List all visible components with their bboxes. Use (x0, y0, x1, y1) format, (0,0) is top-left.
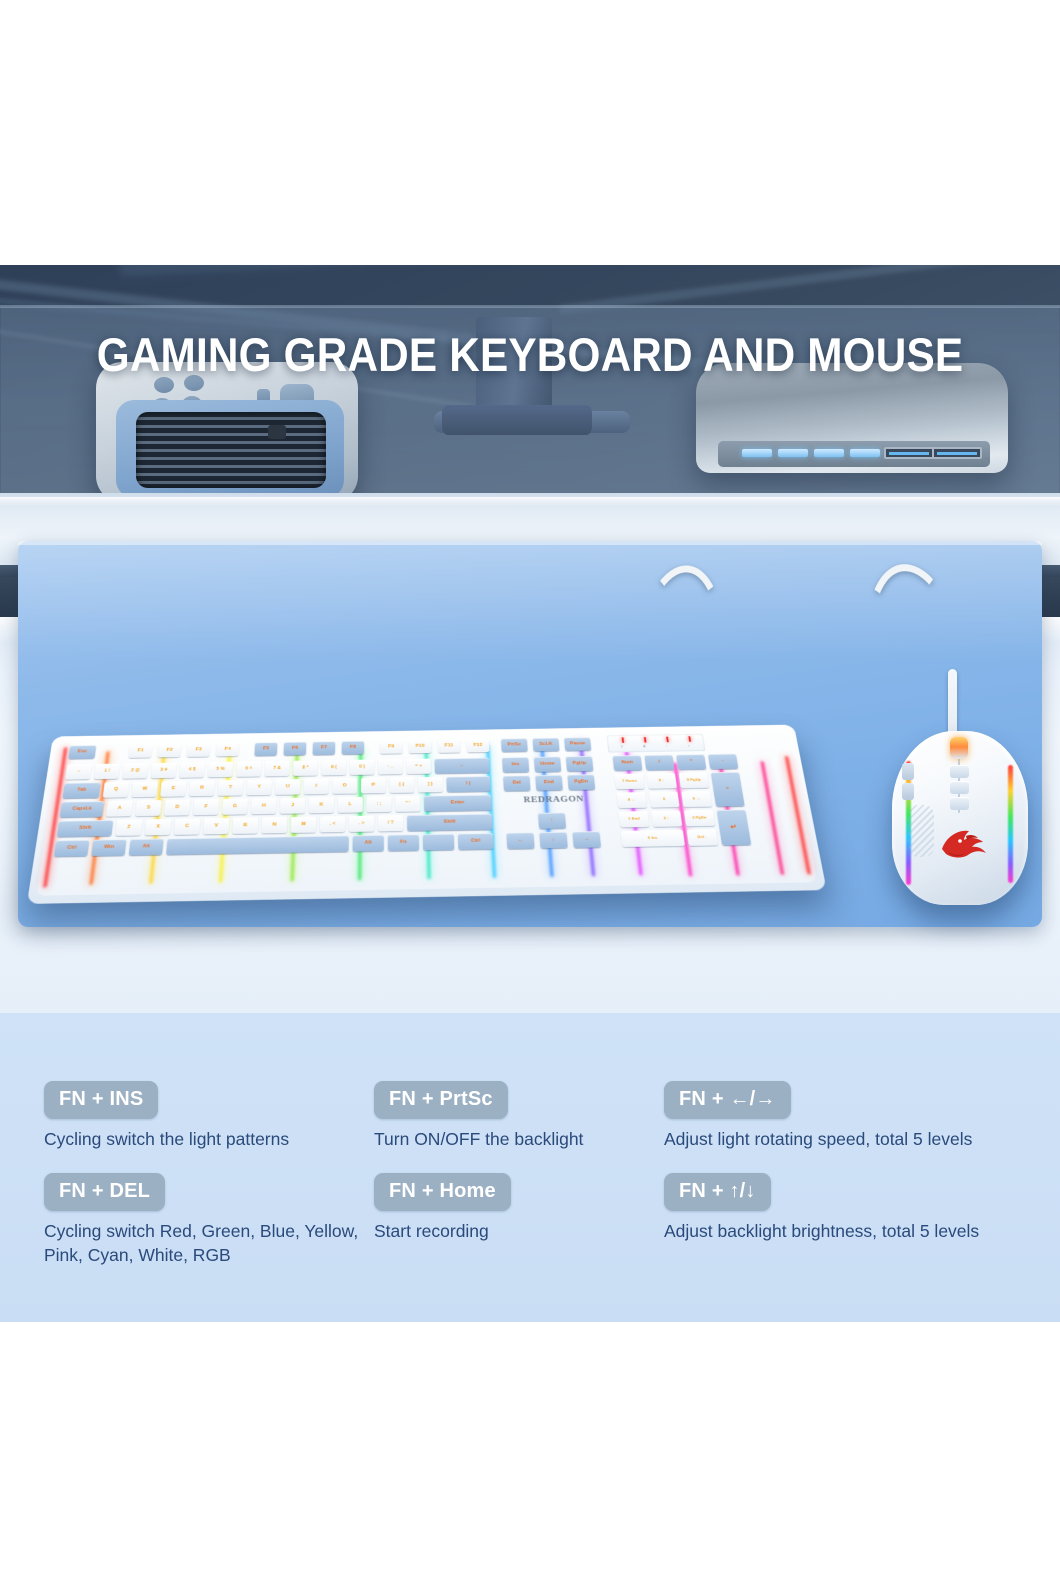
feature-description: Adjust backlight brightness, total 5 lev… (664, 1220, 1024, 1243)
key-r[interactable]: R (189, 780, 215, 796)
mouse-side-button-forward[interactable] (902, 763, 914, 780)
keyboard-brand-logo: REDRAGON (523, 795, 584, 805)
desk-highlight (0, 497, 1060, 507)
feature-column-1: FN + INS Cycling switch the light patter… (44, 1081, 374, 1289)
key-numpad-2[interactable]: 2 ↓ (651, 811, 682, 827)
product-marketing-image: Esc F1 F2 F3 F4 F5 F6 F7 F8 F9 F10 F11 F… (0, 0, 1060, 1590)
dock-led-indicator (778, 449, 808, 457)
key-a[interactable]: A (106, 801, 133, 817)
key-f3[interactable]: F3 (187, 743, 211, 757)
key-5[interactable]: 5 % (208, 762, 234, 778)
key-f9[interactable]: F9 (380, 740, 402, 754)
key-numpad-9[interactable]: 9 PgUp (679, 772, 710, 788)
key-3[interactable]: 3 # (151, 763, 177, 779)
key-f1[interactable]: F1 (128, 744, 152, 758)
key-c[interactable]: C (174, 818, 201, 834)
mouse-profile-button[interactable] (950, 781, 969, 794)
key-prtsc[interactable]: PrtSc (501, 738, 528, 752)
key-enter[interactable]: Enter (424, 795, 492, 812)
key-p[interactable]: P (361, 778, 386, 794)
key-4[interactable]: 4 $ (179, 762, 205, 778)
key-bracket-right[interactable]: ] } (418, 777, 443, 793)
mouse-rgb-strip-right (1008, 765, 1013, 883)
feature-description: Adjust light rotating speed, total 5 lev… (664, 1128, 1024, 1151)
key-bracket-left[interactable]: [ { (389, 777, 414, 793)
key-ins[interactable]: Ins (502, 757, 529, 773)
key-f2[interactable]: F2 (158, 744, 182, 758)
key-slash[interactable]: / ? (378, 815, 403, 831)
key-j[interactable]: J (280, 798, 306, 814)
shortcut-badge-fn-left-right: FN + ←/→ (664, 1081, 791, 1119)
dock-led-indicator (814, 449, 844, 457)
mouse-grip-texture (908, 805, 934, 857)
key-f10[interactable]: F10 (409, 740, 432, 754)
dock-usb-port (932, 447, 982, 459)
key-i[interactable]: I (304, 779, 329, 795)
led-label: 1 (621, 745, 623, 748)
led-label: A (643, 745, 646, 748)
key-f4[interactable]: F4 (216, 743, 239, 757)
key-numpad-plus[interactable]: + (711, 772, 745, 807)
key-9[interactable]: 9 ( (321, 760, 346, 776)
key-period[interactable]: . > (349, 816, 374, 832)
key-menu[interactable] (423, 834, 455, 851)
key-numpad-5[interactable]: 5 (649, 792, 680, 808)
key-f6[interactable]: F6 (283, 742, 306, 756)
key-tilde[interactable]: ~ (65, 764, 92, 780)
mouse-side-button-back[interactable] (902, 783, 914, 800)
key-d[interactable]: D (164, 800, 190, 816)
gaming-mouse[interactable] (884, 721, 1036, 907)
key-numpad-decimal[interactable]: Del . (687, 829, 719, 846)
key-numpad-4[interactable]: 4 ← (617, 792, 647, 808)
key-8[interactable]: 8 * (293, 760, 318, 776)
key-z[interactable]: Z (115, 819, 142, 835)
feature-item: FN + INS Cycling switch the light patter… (44, 1081, 374, 1151)
key-w[interactable]: W (131, 781, 158, 797)
key-ctrl-left[interactable]: Ctrl (54, 840, 90, 857)
feature-description: Turn ON/OFF the backlight (374, 1128, 664, 1151)
key-numpad-enter[interactable]: ↵ (717, 809, 752, 845)
key-numpad-7[interactable]: 7 Home (614, 773, 644, 789)
feature-item: FN + ←/→ Adjust light rotating speed, to… (664, 1081, 1024, 1151)
key-arrow-right[interactable]: → (572, 831, 601, 848)
key-q[interactable]: Q (103, 782, 130, 798)
key-0[interactable]: 0 ) (350, 759, 375, 775)
key-u[interactable]: U (275, 779, 300, 795)
key-v[interactable]: V (203, 818, 229, 834)
key-f12[interactable]: F12 (466, 739, 489, 753)
key-equals[interactable]: = + (406, 759, 431, 775)
key-home[interactable]: Home (534, 756, 562, 772)
key-m[interactable]: M (291, 817, 317, 833)
key-l[interactable]: L (338, 797, 363, 813)
speaker-lens (268, 425, 286, 439)
mousepad-edge (18, 541, 1042, 545)
key-f7[interactable]: F7 (313, 741, 336, 755)
key-f11[interactable]: F11 (438, 739, 461, 753)
feature-description: Start recording (374, 1220, 664, 1243)
key-b[interactable]: B (232, 818, 258, 834)
shortcut-badge-fn-del: FN + DEL (44, 1173, 165, 1211)
mouse-scroll-wheel[interactable] (950, 737, 968, 759)
key-y[interactable]: Y (246, 780, 272, 796)
key-f5[interactable]: F5 (254, 742, 277, 756)
feature-description: Cycling switch Red, Green, Blue, Yellow,… (44, 1220, 374, 1267)
key-arrow-down[interactable]: ↓ (539, 832, 568, 849)
feature-item: FN + Home Start recording (374, 1173, 664, 1243)
key-pause[interactable]: Pause (564, 737, 591, 751)
key-backslash[interactable]: \ | (446, 776, 490, 792)
key-tab[interactable]: Tab (62, 782, 100, 798)
key-backspace[interactable]: ← (434, 758, 489, 774)
led-label: ↑ (665, 745, 667, 748)
key-arrow-left[interactable]: ← (506, 832, 534, 849)
mouse-extra-button[interactable] (950, 797, 969, 810)
feature-item: FN + ↑/↓ Adjust backlight brightness, to… (664, 1173, 1024, 1243)
key-f[interactable]: F (193, 799, 219, 815)
feature-item: FN + PrtSc Turn ON/OFF the backlight (374, 1081, 664, 1151)
key-comma[interactable]: , < (320, 816, 346, 832)
key-1[interactable]: 1 ! (94, 764, 121, 780)
key-k[interactable]: K (309, 797, 334, 813)
dock-usb-port (884, 447, 934, 459)
key-ctrl-right[interactable]: Ctrl (458, 833, 494, 850)
led-label: ⌂ (688, 744, 690, 747)
key-6[interactable]: 6 ^ (236, 761, 261, 777)
key-2[interactable]: 2 @ (122, 763, 148, 779)
key-numlock[interactable]: Num (612, 755, 642, 771)
shortcut-badge-fn-home: FN + Home (374, 1173, 511, 1211)
mouse-cable-end (948, 669, 957, 739)
key-f8[interactable]: F8 (342, 741, 365, 755)
key-quote[interactable]: " ' (395, 796, 420, 812)
mouse-dpi-button[interactable] (950, 765, 969, 778)
dock-led-indicator (850, 449, 880, 457)
key-pgup[interactable]: PgUp (566, 756, 594, 772)
key-end[interactable]: End (535, 775, 563, 791)
key-g[interactable]: G (222, 799, 248, 815)
shortcut-badge-fn-prtsc: FN + PrtSc (374, 1081, 508, 1119)
key-alt-right[interactable]: Alt (353, 835, 384, 852)
speaker-grille (136, 412, 326, 488)
key-alt-left[interactable]: Alt (129, 839, 164, 856)
key-e[interactable]: E (160, 781, 186, 797)
key-win[interactable]: Win (91, 839, 126, 856)
feature-column-3: FN + ←/→ Adjust light rotating speed, to… (664, 1081, 1024, 1266)
page-title: GAMING GRADE KEYBOARD AND MOUSE (53, 327, 1007, 382)
feature-description: Cycling switch the light patterns (44, 1128, 374, 1151)
key-numpad-3[interactable]: 3 PgDn (684, 810, 715, 826)
key-arrow-up[interactable]: ↑ (538, 812, 566, 828)
key-7[interactable]: 7 & (264, 761, 289, 777)
key-numpad-divide[interactable]: / (644, 755, 674, 771)
redragon-dragon-logo (936, 825, 992, 861)
dock-led-indicator (742, 449, 772, 457)
mechanical-keyboard[interactable]: Esc F1 F2 F3 F4 F5 F6 F7 F8 F9 F10 F11 F… (27, 725, 827, 904)
key-numpad-0[interactable]: 0 Ins (621, 830, 685, 847)
key-numpad-1[interactable]: 1 End (619, 811, 650, 827)
shortcut-badge-fn-up-down: FN + ↑/↓ (664, 1173, 771, 1211)
key-numpad-6[interactable]: 6 → (681, 791, 712, 807)
key-shift-right[interactable]: Shift (407, 814, 493, 831)
feature-column-2: FN + PrtSc Turn ON/OFF the backlight FN … (374, 1081, 664, 1266)
key-capslock[interactable]: CapsLk (60, 801, 105, 817)
key-space[interactable] (166, 835, 349, 854)
key-s[interactable]: S (135, 800, 162, 816)
key-numpad-minus[interactable]: - (708, 754, 739, 770)
key-pgdn[interactable]: PgDn (567, 774, 595, 790)
key-semicolon[interactable]: : ; (367, 796, 392, 812)
key-sclk[interactable]: ScLK (532, 738, 559, 752)
key-o[interactable]: O (332, 778, 357, 794)
key-minus[interactable]: - _ (378, 759, 403, 775)
key-esc[interactable]: Esc (68, 745, 96, 759)
key-shift-left[interactable]: Shift (57, 820, 114, 837)
shortcut-badge-fn-ins: FN + INS (44, 1081, 158, 1119)
feature-panel: FN + INS Cycling switch the light patter… (0, 1013, 1060, 1322)
key-h[interactable]: H (251, 798, 277, 814)
key-x[interactable]: X (145, 819, 172, 835)
key-fn[interactable]: Fn (388, 834, 419, 851)
key-del[interactable]: Del (503, 775, 531, 791)
key-numpad-multiply[interactable]: * (676, 754, 706, 770)
feature-item: FN + DEL Cycling switch Red, Green, Blue… (44, 1173, 374, 1267)
wall-edge (0, 305, 1060, 308)
key-n[interactable]: N (261, 817, 287, 833)
monitor-stand-base (442, 405, 592, 435)
key-t[interactable]: T (218, 780, 244, 796)
key-numpad-8[interactable]: 8 ↑ (647, 773, 677, 789)
